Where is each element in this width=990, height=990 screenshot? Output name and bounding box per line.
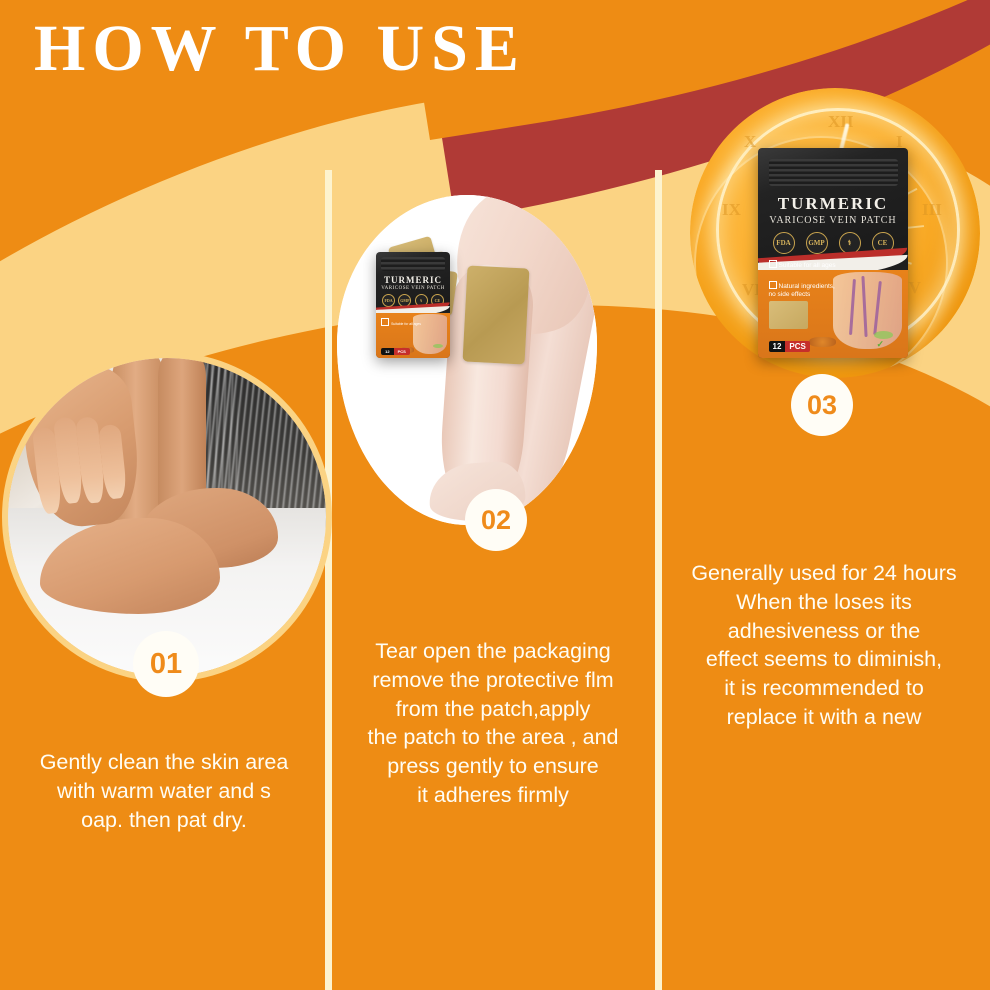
step-1-description: Gently clean the skin area with warm wat…: [8, 748, 320, 834]
product-package-large: TURMERIC VARICOSE VEIN PATCH FDA GMP ⚕ C…: [758, 148, 908, 358]
package-features: Suitable for all ages Natural ingredient…: [769, 260, 836, 300]
page-title: HOW TO USE: [34, 10, 526, 88]
vein-line: [873, 281, 882, 335]
clock-numeral: IX: [722, 200, 741, 220]
package-zip-strip: [381, 257, 445, 271]
package-count-number: 12: [769, 341, 786, 352]
package-feature-2-label: Natural ingredients, no side effects: [769, 283, 835, 298]
fda-badge-icon: FDA: [773, 232, 795, 254]
product-package-small: TURMERIC VARICOSE VEIN PATCH FDA GMP ⚕ C…: [376, 252, 450, 358]
checkbox-icon: [769, 260, 777, 268]
how-to-use-infographic: XII III VI IX I IV VII X HOW TO USE: [0, 0, 990, 990]
step-2-number-badge: 02: [465, 489, 527, 551]
green-seal-icon: [874, 331, 894, 339]
turmeric-root-illustration: [809, 337, 836, 348]
package-feature-1-label: Suitable for all ages: [779, 262, 836, 269]
column-divider: [655, 170, 662, 990]
checkbox-icon: [769, 281, 777, 289]
step-3-description: Generally used for 24 hours When the los…: [663, 559, 985, 732]
package-count-label: PCS: [394, 348, 410, 355]
package-title: TURMERIC: [758, 194, 908, 214]
step-1-number-badge: 01: [133, 631, 199, 697]
green-check-icon: ✓: [876, 339, 884, 350]
clock-numeral: X: [744, 132, 756, 152]
package-patch-illustration: [769, 301, 808, 328]
step-2-description: Tear open the packaging remove the prote…: [335, 637, 651, 810]
package-feature-2: Natural ingredients, no side effects: [769, 273, 836, 299]
checkbox-icon: [381, 318, 389, 326]
applied-patch: [463, 265, 530, 364]
gmp-badge-icon: GMP: [806, 232, 828, 254]
package-title: TURMERIC: [376, 275, 450, 285]
package-feature-1: Suitable for all ages: [381, 318, 421, 326]
column-divider: [325, 170, 332, 990]
package-count-label: PCS: [785, 341, 809, 352]
step-3-number-badge: 03: [791, 374, 853, 436]
package-feature-1-label: Suitable for all ages: [391, 322, 421, 326]
package-count-badge: 12 PCS: [769, 341, 810, 352]
clock-numeral: XII: [828, 112, 854, 132]
package-subtitle: VARICOSE VEIN PATCH: [758, 215, 908, 226]
package-subtitle: VARICOSE VEIN PATCH: [376, 286, 450, 291]
package-zip-strip: [769, 159, 898, 186]
clock-numeral: III: [922, 200, 942, 220]
vein-line: [862, 276, 868, 337]
package-count-badge: 12 PCS: [381, 348, 410, 355]
package-count-number: 12: [381, 348, 393, 355]
vein-line: [849, 279, 856, 335]
step-2-photo: TURMERIC VARICOSE VEIN PATCH FDA GMP ⚕ C…: [337, 195, 597, 525]
package-leg-illustration: [833, 272, 902, 350]
package-feature-1: Suitable for all ages: [769, 260, 836, 270]
